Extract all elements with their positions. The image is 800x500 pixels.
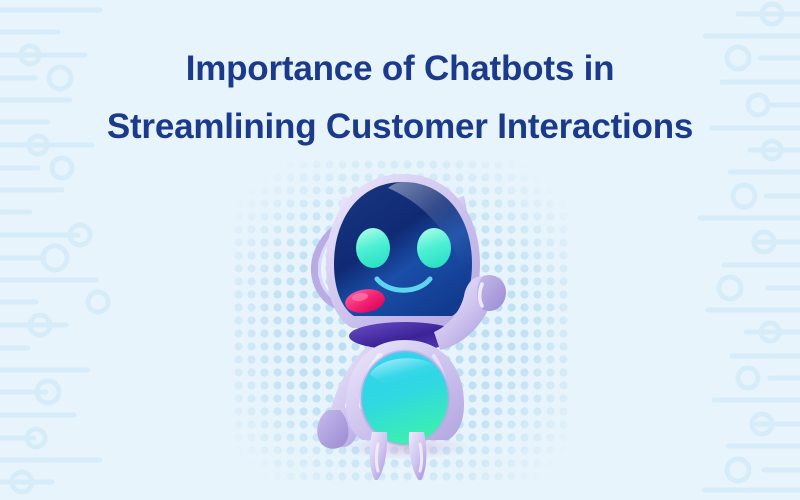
right-leg	[409, 432, 426, 480]
title-line-1: Importance of Chatbots in	[0, 40, 800, 98]
page-title: Importance of Chatbots in Streamlining C…	[0, 40, 800, 156]
left-eye	[356, 228, 390, 268]
left-leg	[370, 432, 387, 480]
banner-canvas: Importance of Chatbots in Streamlining C…	[0, 0, 800, 500]
lowered-arm-hand	[317, 410, 348, 449]
left-leg-highlight	[377, 444, 379, 471]
right-eye	[417, 228, 451, 268]
title-line-2: Streamlining Customer Interactions	[0, 98, 800, 156]
chatbot-mascot-illustration	[268, 160, 538, 480]
right-leg-highlight	[420, 444, 422, 471]
chatbot-mascot-svg	[268, 160, 538, 480]
